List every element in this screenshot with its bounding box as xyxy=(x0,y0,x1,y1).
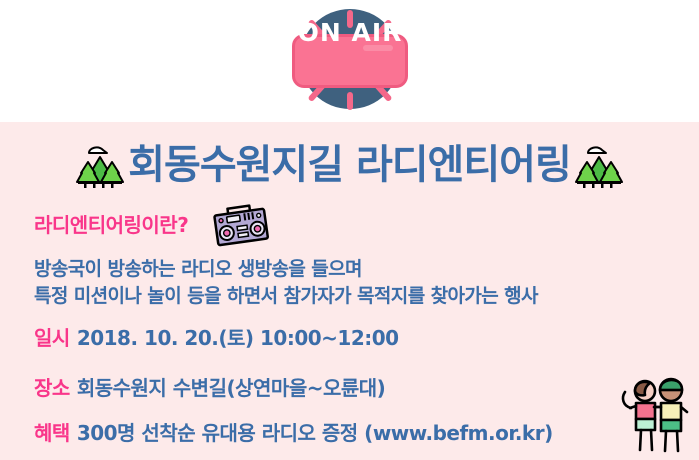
page-title: 회동수원지길 라디엔티어링 xyxy=(128,145,571,185)
info-value-perk: 300명 선착순 유대용 라디오 증정 (www.befm.or.kr) xyxy=(77,421,553,445)
badge-ray-bottom xyxy=(347,92,353,110)
question-heading: 라디엔티어링이란? xyxy=(34,209,188,238)
info-label-place: 장소 xyxy=(34,376,70,400)
mountain-trees-icon xyxy=(575,142,623,188)
info-label-perk: 혜택 xyxy=(34,421,70,445)
title-row: 회동수원지길 라디엔티어링 xyxy=(0,134,699,196)
description-block: 방송국이 방송하는 라디오 생방송을 들으며 특정 미션이나 놀이 등을 하면서… xyxy=(34,256,538,310)
description-line-1: 방송국이 방송하는 라디오 생방송을 들으며 xyxy=(34,256,538,283)
info-value-date: 2018. 10. 20.(토) 10:00~12:00 xyxy=(77,326,399,350)
two-hikers-icon xyxy=(619,374,691,458)
on-air-label: ON AIR xyxy=(288,18,412,47)
boombox-radio-icon xyxy=(212,203,270,253)
info-value-place: 회동수원지 수변길(상연마을~오륜대) xyxy=(77,376,386,400)
info-row-date: 일시2018. 10. 20.(토) 10:00~12:00 xyxy=(34,322,399,351)
description-line-2: 특정 미션이나 놀이 등을 하면서 참가자가 목적지를 찾아가는 행사 xyxy=(34,283,538,310)
poster-canvas: ON AIR 회동수원지길 라디엔티어링 xyxy=(0,0,699,460)
info-row-place: 장소회동수원지 수변길(상연마을~오륜대) xyxy=(34,372,385,401)
info-label-date: 일시 xyxy=(34,326,70,350)
info-row-perk: 혜택300명 선착순 유대용 라디오 증정 (www.befm.or.kr) xyxy=(34,417,553,446)
mountain-trees-icon xyxy=(76,142,124,188)
on-air-badge: ON AIR xyxy=(288,2,412,120)
